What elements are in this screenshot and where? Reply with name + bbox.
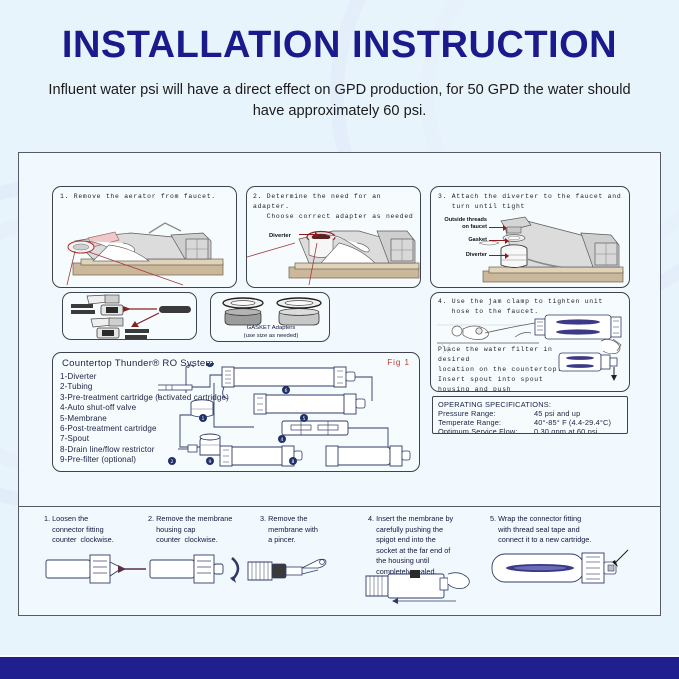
maintenance-step-5-text: 5. Wrap the connector fitting with threa…: [490, 514, 650, 546]
step-4-note: Place the water filter in desired locati…: [438, 345, 568, 392]
diverter-arrow-panel2: [299, 234, 315, 235]
svg-text:2: 2: [171, 459, 174, 465]
step-3-text: 3. Attach the diverter to the faucet and…: [438, 192, 621, 212]
maintenance-step-4: 4. Insert the membrane by carefully push…: [368, 514, 484, 610]
svg-text:9: 9: [209, 459, 212, 465]
maintenance-step-2-text: 2. Remove the membrane housing cap count…: [148, 514, 260, 546]
spec-label-flow: Optimum Service Flow:: [438, 427, 534, 434]
step-panel-1: 1. Remove the aerator from faucet.: [52, 186, 237, 288]
operating-specifications-box: OPERATING SPECIFICATIONS: Pressure Range…: [432, 396, 628, 434]
page-subtitle: Influent water psi will have a direct ef…: [48, 80, 631, 122]
spout-install-illustration: [557, 337, 629, 389]
fig1-schematic: 1 2 3 4 5 6 7 8 9: [158, 363, 418, 472]
faucet-illustration-2: [247, 213, 421, 285]
callout-diverter: Diverter: [443, 252, 487, 259]
svg-text:1: 1: [202, 416, 205, 422]
maintenance-step-3: 3. Remove the membrane with a pincer.: [260, 514, 360, 610]
gasket-adapters-box: GASKET Adapters (use size as needed): [210, 292, 330, 342]
gasket-box-line2: (use size as needed): [211, 333, 330, 341]
callout-arrow-diverter: [489, 255, 505, 256]
callout-arrow-threads: [489, 227, 503, 228]
maintenance-step-5: 5. Wrap the connector fitting with threa…: [490, 514, 650, 610]
callout-gasket: Gasket: [447, 237, 487, 244]
aerator-detail-illustration: [63, 293, 197, 340]
specs-title: OPERATING SPECIFICATIONS:: [438, 400, 622, 409]
step-panel-3: 3. Attach the diverter to the faucet and…: [430, 186, 630, 288]
step-panel-4: 4. Use the jam clamp to tighten unit hos…: [430, 292, 630, 392]
step-1-text: 1. Remove the aerator from faucet.: [60, 192, 216, 202]
svg-text:6: 6: [285, 388, 288, 394]
spec-label-pressure: Pressure Range:: [438, 409, 534, 418]
maintenance-step-3-text: 3. Remove the membrane with a pincer.: [260, 514, 360, 546]
svg-text:4: 4: [281, 437, 284, 443]
svg-text:5: 5: [303, 416, 306, 422]
callout-outside-threads: Outside threads on faucet: [443, 217, 487, 231]
callout-arrow-gasket: [489, 240, 505, 241]
spec-row-temperature: Temperate Range: 40°-85° F (4.4-29.4°C): [438, 418, 622, 427]
aerator-detail-box: [62, 292, 197, 340]
diverter-label-panel2: Diverter: [269, 233, 291, 239]
spec-value-temperature: 40°-85° F (4.4-29.4°C): [534, 418, 622, 427]
fig1-panel: Fig 1 Countertop Thunder® RO System 1-Di…: [52, 352, 420, 472]
maintenance-step-1: 1. Loosen the connector fitting counter …: [44, 514, 152, 610]
step-panel-2: 2. Determine the need for an adapter. Ch…: [246, 186, 421, 288]
faucet-illustration-1: [53, 211, 237, 286]
gasket-box-line1: GASKET Adapters: [211, 325, 330, 333]
gasket-adapters-illustration: [211, 295, 330, 329]
maintenance-step-1-text: 1. Loosen the connector fitting counter …: [44, 514, 152, 546]
spec-row-flow: Optimum Service Flow: 0.30 gpm at 60 psi: [438, 427, 622, 434]
svg-text:8: 8: [292, 459, 295, 465]
membrane-pincer-illustration: [246, 550, 342, 590]
svg-text:7: 7: [209, 363, 212, 367]
spec-label-temperature: Temperate Range:: [438, 418, 534, 427]
spec-row-pressure: Pressure Range: 45 psi and up: [438, 409, 622, 418]
new-cartridge-illustration: [482, 548, 632, 592]
housing-cap-remove-illustration: [148, 550, 256, 590]
spec-value-pressure: 45 psi and up: [534, 409, 622, 418]
connector-fitting-loosen-illustration: [44, 550, 148, 590]
page-title: INSTALLATION INSTRUCTION: [0, 24, 679, 67]
bottom-bar: [0, 657, 679, 679]
spec-value-flow: 0.30 gpm at 60 psi: [534, 427, 622, 434]
membrane-insert-illustration: [364, 568, 482, 604]
maintenance-step-2: 2. Remove the membrane housing cap count…: [148, 514, 260, 610]
